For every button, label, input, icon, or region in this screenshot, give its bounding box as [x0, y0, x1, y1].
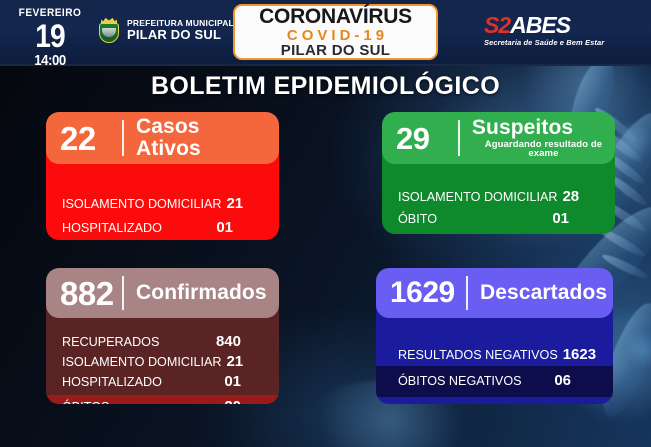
- panel-title-confirmados: Confirmados: [136, 282, 267, 304]
- stat-value: 01: [552, 210, 569, 228]
- panel-title-line1: Descartados: [480, 282, 607, 304]
- stat-row: ÓBITO 01: [382, 208, 615, 230]
- covid19-label: COVID-19: [287, 28, 388, 43]
- city-label: PILAR DO SUL: [281, 43, 390, 58]
- stat-row: ISOLAMENTO DOMICILIAR 21: [46, 192, 279, 216]
- stat-label: ISOLAMENTO DOMICILIAR: [62, 196, 222, 212]
- date-time: 14:00: [13, 53, 87, 68]
- abes-subtitle: Secretaria de Saúde e Bem Estar: [484, 38, 604, 47]
- stat-value: 01: [224, 373, 241, 391]
- panel-casos-ativos: 22 Casos Ativos ISOLAMENTO DOMICILIAR 21…: [46, 112, 279, 240]
- panel-title-descartados: Descartados: [480, 282, 607, 304]
- panel-descartados: 1629 Descartados RESULTADOS NEGATIVOS 16…: [376, 268, 613, 404]
- coronavirus-title-box: CORONAVÍRUS COVID-19 PILAR DO SUL: [233, 4, 438, 60]
- panel-title-line1: Casos: [136, 116, 201, 138]
- stat-row: RECUPERADOS 840: [46, 332, 279, 352]
- prefeitura-text: PREFEITURA MUNICIPAL PILAR DO SUL: [127, 19, 234, 42]
- stat-label: ÓBITO: [398, 211, 437, 227]
- abes-name: ABES: [510, 12, 570, 38]
- stat-value: 21: [226, 353, 243, 371]
- panel-title-line2: Ativos: [136, 138, 201, 160]
- stat-value: 1623: [563, 346, 596, 364]
- stat-label: HOSPITALIZADO: [62, 220, 162, 236]
- coat-of-arms-icon: [97, 17, 121, 44]
- panel-suspeitos: 29 Suspeitos Aguardando resultado de exa…: [382, 112, 615, 234]
- panel-title-line1: Confirmados: [136, 282, 267, 304]
- stat-value: 28: [562, 188, 579, 206]
- stat-label: ISOLAMENTO DOMICILIAR: [398, 189, 558, 205]
- stat-row: HOSPITALIZADO 01: [46, 216, 279, 240]
- panel-title-casos-ativos: Casos Ativos: [136, 116, 201, 159]
- panel-confirmados: 882 Confirmados RECUPERADOS 840 ISOLAMEN…: [46, 268, 279, 404]
- stat-row: RESULTADOS NEGATIVOS 1623: [376, 344, 613, 366]
- stat-value: 20: [224, 398, 241, 404]
- coronavirus-label: CORONAVÍRUS: [259, 6, 412, 27]
- stat-label: ÓBITOS NEGATIVOS: [398, 373, 522, 389]
- stat-value: 01: [216, 219, 233, 237]
- stat-value: 21: [226, 195, 243, 213]
- stat-row-obitos: ÓBITOS 20: [46, 395, 279, 404]
- stat-row-obitos-negativos: ÓBITOS NEGATIVOS 06: [376, 366, 613, 397]
- panel-body-confirmados: RECUPERADOS 840 ISOLAMENTO DOMICILIAR 21…: [46, 304, 279, 404]
- count-suspeitos: 29: [396, 123, 454, 154]
- date-block: FEVEREIRO 19 14:00: [8, 8, 92, 64]
- panel-body-descartados: RESULTADOS NEGATIVOS 1623 ÓBITOS NEGATIV…: [376, 304, 613, 404]
- panel-header-descartados: 1629 Descartados: [376, 268, 613, 318]
- panel-subtitle: Aguardando resultado de exame: [472, 140, 615, 160]
- date-day: 19: [13, 20, 87, 52]
- panel-header-suspeitos: 29 Suspeitos Aguardando resultado de exa…: [382, 112, 615, 164]
- count-descartados: 1629: [390, 278, 462, 308]
- stat-row: HOSPITALIZADO 01: [46, 372, 279, 392]
- panel-header-confirmados: 882 Confirmados: [46, 268, 279, 318]
- stat-label: RECUPERADOS: [62, 334, 159, 350]
- stat-label: HOSPITALIZADO: [62, 374, 162, 390]
- prefeitura-line2: PILAR DO SUL: [127, 28, 234, 42]
- header-divider: [122, 120, 124, 156]
- stat-row: ISOLAMENTO DOMICILIAR 21: [46, 352, 279, 372]
- stat-label: ISOLAMENTO DOMICILIAR: [62, 354, 222, 370]
- stat-row: ISOLAMENTO DOMICILIAR 28: [382, 186, 615, 208]
- panel-title-line1: Suspeitos: [472, 117, 615, 139]
- bulletin-poster: FEVEREIRO 19 14:00 PREFEITURA MUNICIPAL …: [0, 0, 651, 447]
- header-divider: [122, 276, 124, 310]
- header-divider: [466, 276, 468, 310]
- stat-label: RESULTADOS NEGATIVOS: [398, 347, 558, 363]
- panel-header-casos-ativos: 22 Casos Ativos: [46, 112, 279, 164]
- stat-value: 840: [216, 333, 241, 351]
- header-band: FEVEREIRO 19 14:00 PREFEITURA MUNICIPAL …: [0, 0, 651, 66]
- page-title: BOLETIM EPIDEMIOLÓGICO: [0, 72, 651, 101]
- stat-label: ÓBITOS: [62, 399, 109, 404]
- prefeitura-logo: PREFEITURA MUNICIPAL PILAR DO SUL: [97, 17, 234, 44]
- stat-value: 06: [554, 372, 571, 390]
- abes-prefix: S2: [484, 12, 510, 38]
- panel-title-suspeitos: Suspeitos Aguardando resultado de exame: [472, 117, 615, 159]
- abes-wordmark: S2ABES: [484, 14, 604, 37]
- abes-logo: S2ABES Secretaria de Saúde e Bem Estar: [484, 14, 604, 47]
- header-divider: [458, 120, 460, 156]
- count-casos-ativos: 22: [60, 122, 118, 155]
- count-confirmados: 882: [60, 277, 118, 310]
